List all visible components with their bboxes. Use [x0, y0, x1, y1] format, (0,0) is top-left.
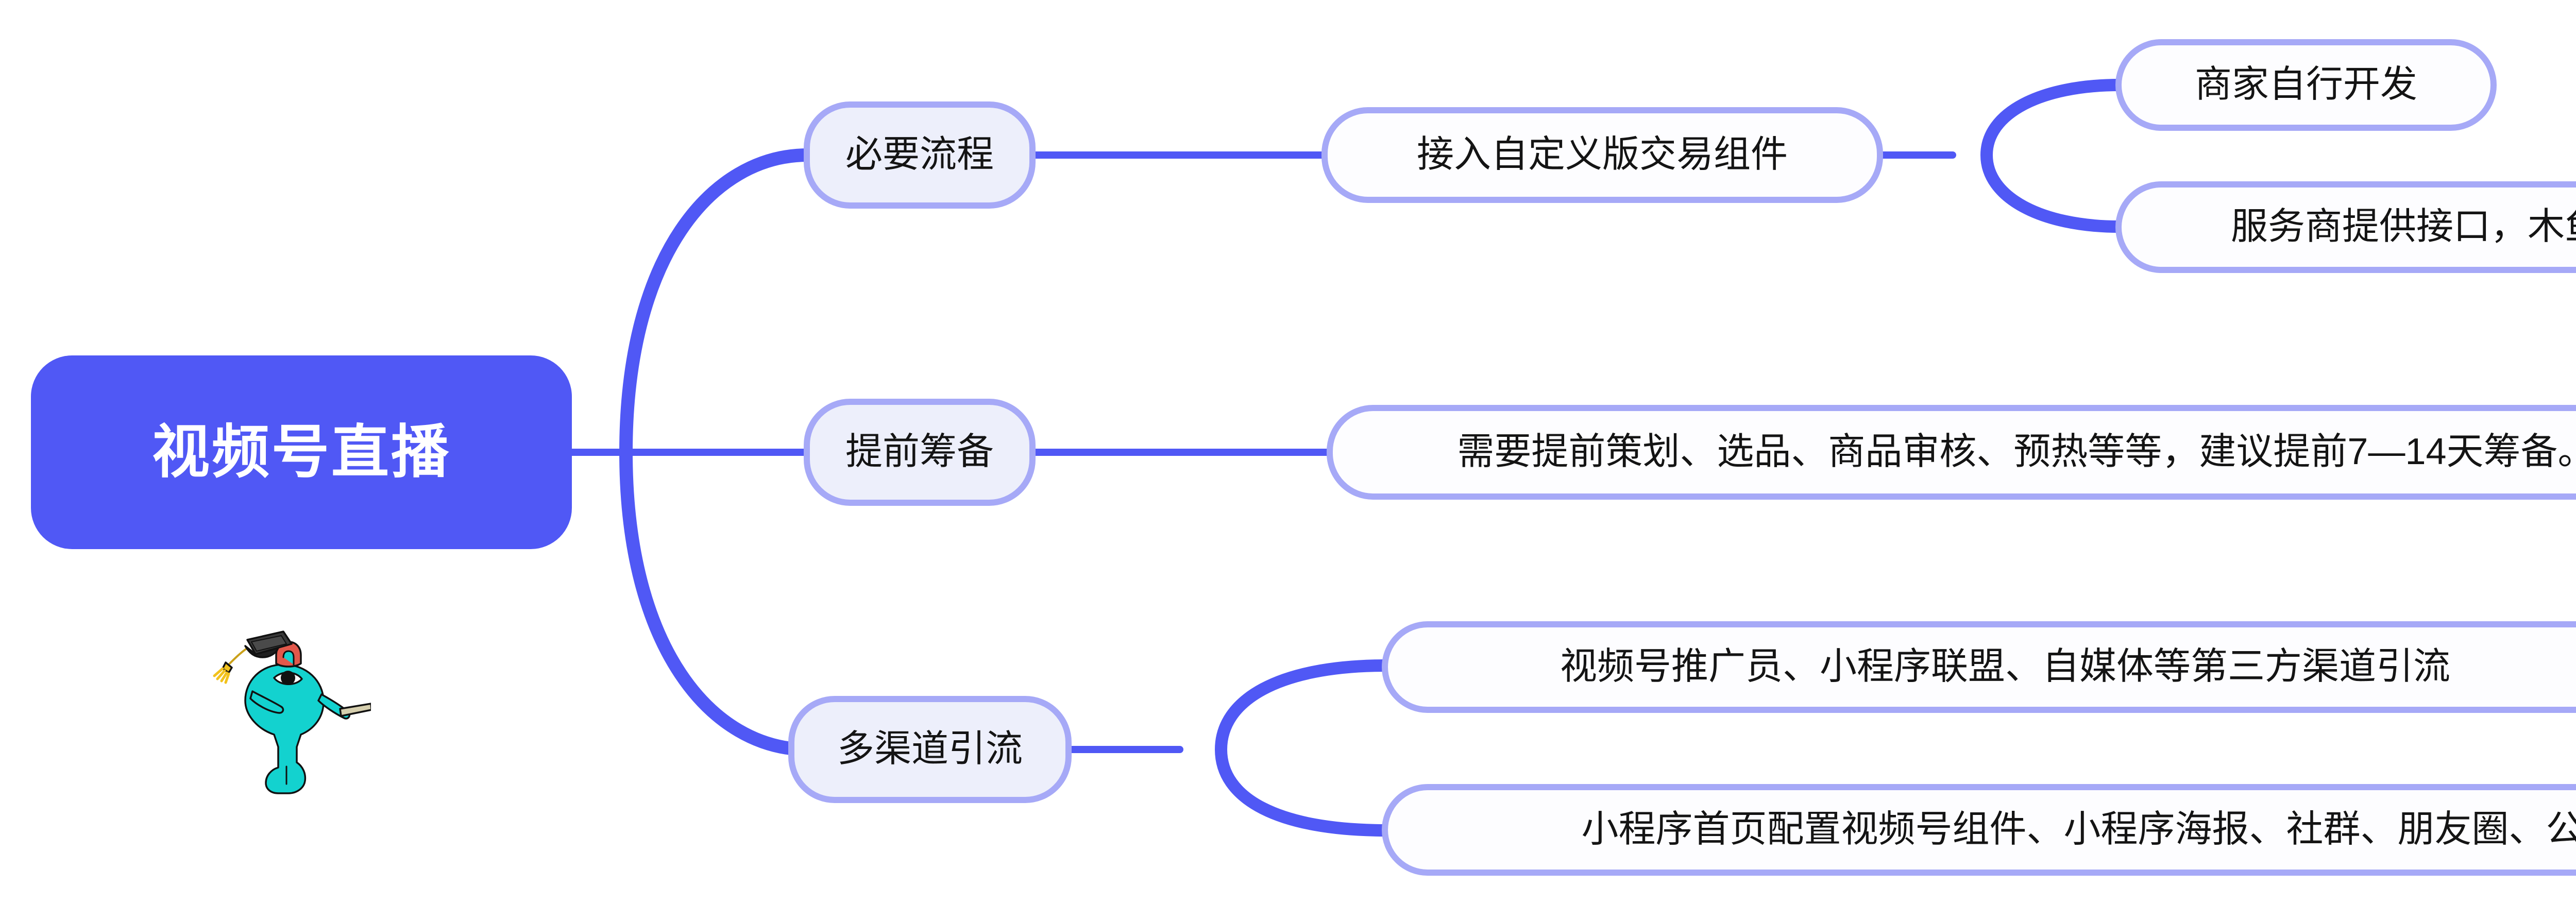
connector-branch3-fork — [1221, 666, 1386, 830]
tassel-icon — [214, 662, 232, 683]
leaf-node-1-1-2-label: 服务商提供接口，木鱼小铺可提供 — [2231, 207, 2576, 247]
leaf-node-1-1-label: 接入自定义版交易组件 — [1417, 134, 1788, 175]
leaf-node-2-1-label: 需要提前策划、选品、商品审核、预热等等，建议提前7—14天筹备。 — [1457, 432, 2576, 472]
connector-root-spine — [626, 155, 808, 749]
branch-node-1[interactable]: 必要流程 — [804, 101, 1036, 209]
root-node[interactable]: 视频号直播 — [31, 355, 572, 549]
branch-node-3-label: 多渠道引流 — [837, 729, 1023, 770]
leaf-node-3-2[interactable]: 小程序首页配置视频号组件、小程序海报、社群、朋友圈、公众号等 — [1382, 784, 2576, 876]
leaf-node-1-1-2[interactable]: 服务商提供接口，木鱼小铺可提供 — [2115, 181, 2576, 273]
leaf-node-1-1[interactable]: 接入自定义版交易组件 — [1321, 107, 1883, 203]
connector-leaf11-fork — [1987, 85, 2120, 227]
leaf-node-2-1[interactable]: 需要提前策划、选品、商品审核、预热等等，建议提前7—14天筹备。 — [1327, 405, 2576, 500]
leaf-node-3-2-label: 小程序首页配置视频号组件、小程序海报、社群、朋友圈、公众号等 — [1581, 809, 2576, 850]
branch-node-3[interactable]: 多渠道引流 — [788, 696, 1072, 803]
leaf-node-3-1-label: 视频号推广员、小程序联盟、自媒体等第三方渠道引流 — [1560, 646, 2450, 687]
branch-node-2[interactable]: 提前筹备 — [804, 399, 1036, 506]
leaf-node-1-1-1[interactable]: 商家自行开发 — [2115, 39, 2497, 131]
leaf-node-1-1-1-label: 商家自行开发 — [2195, 64, 2417, 105]
mascot-illustration — [196, 592, 371, 798]
mindmap-canvas: 视频号直播 必要流程 提前筹备 多渠道引流 接入自定义版交易组件 商家自行开发 … — [0, 0, 2576, 903]
branch-node-1-label: 必要流程 — [845, 134, 994, 175]
leaf-node-3-1[interactable]: 视频号推广员、小程序联盟、自媒体等第三方渠道引流 — [1382, 621, 2576, 713]
branch-node-2-label: 提前筹备 — [845, 432, 994, 472]
root-node-label: 视频号直播 — [152, 420, 451, 484]
